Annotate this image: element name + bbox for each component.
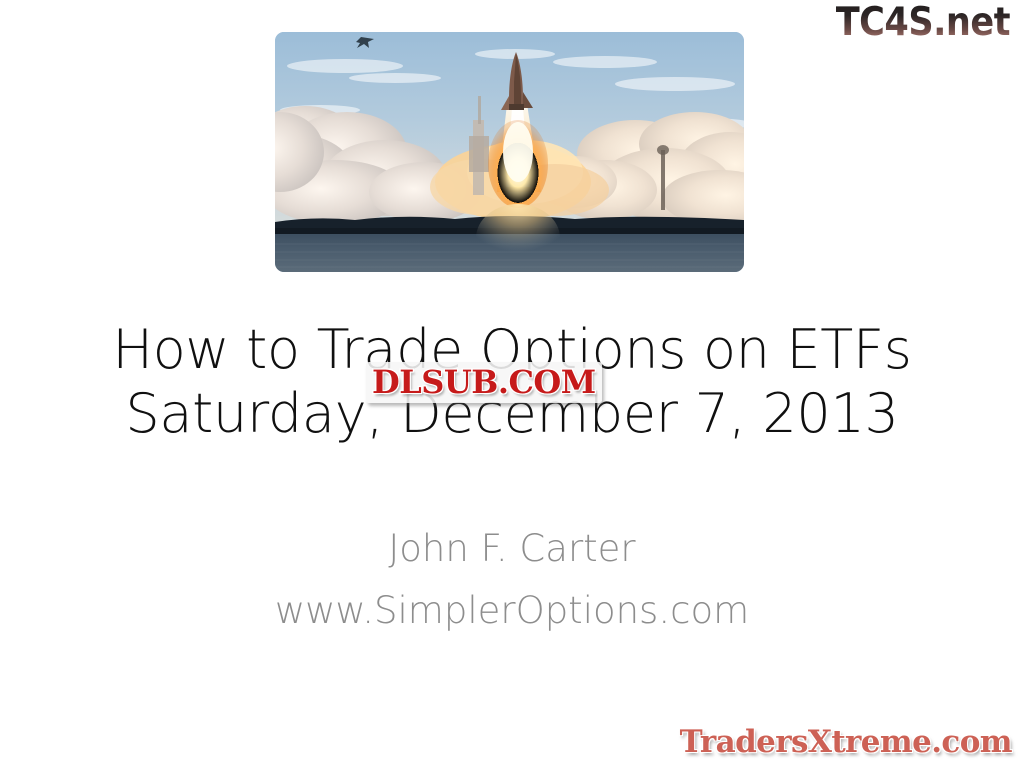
presenter-website: www.SimplerOptions.com [0, 580, 1024, 642]
slide-subtitle: John F. Carter www.SimplerOptions.com [0, 518, 1024, 642]
presenter-name: John F. Carter [0, 518, 1024, 580]
watermark-tc4s: TC4S.net [836, 2, 1010, 44]
shuttle-launch-image [275, 32, 744, 272]
watermark-dlsub-label: DLSUB.COM [372, 364, 596, 400]
presentation-slide: How to Trade Options on ETFs Saturday, D… [0, 0, 1024, 768]
watermark-dlsub: DLSUB.COM [366, 362, 602, 403]
launch-illustration [275, 32, 744, 272]
watermark-tradersxtreme-label: TradersXtreme.com [680, 724, 1012, 760]
watermark-tradersxtreme: TradersXtreme.com [680, 724, 1012, 760]
